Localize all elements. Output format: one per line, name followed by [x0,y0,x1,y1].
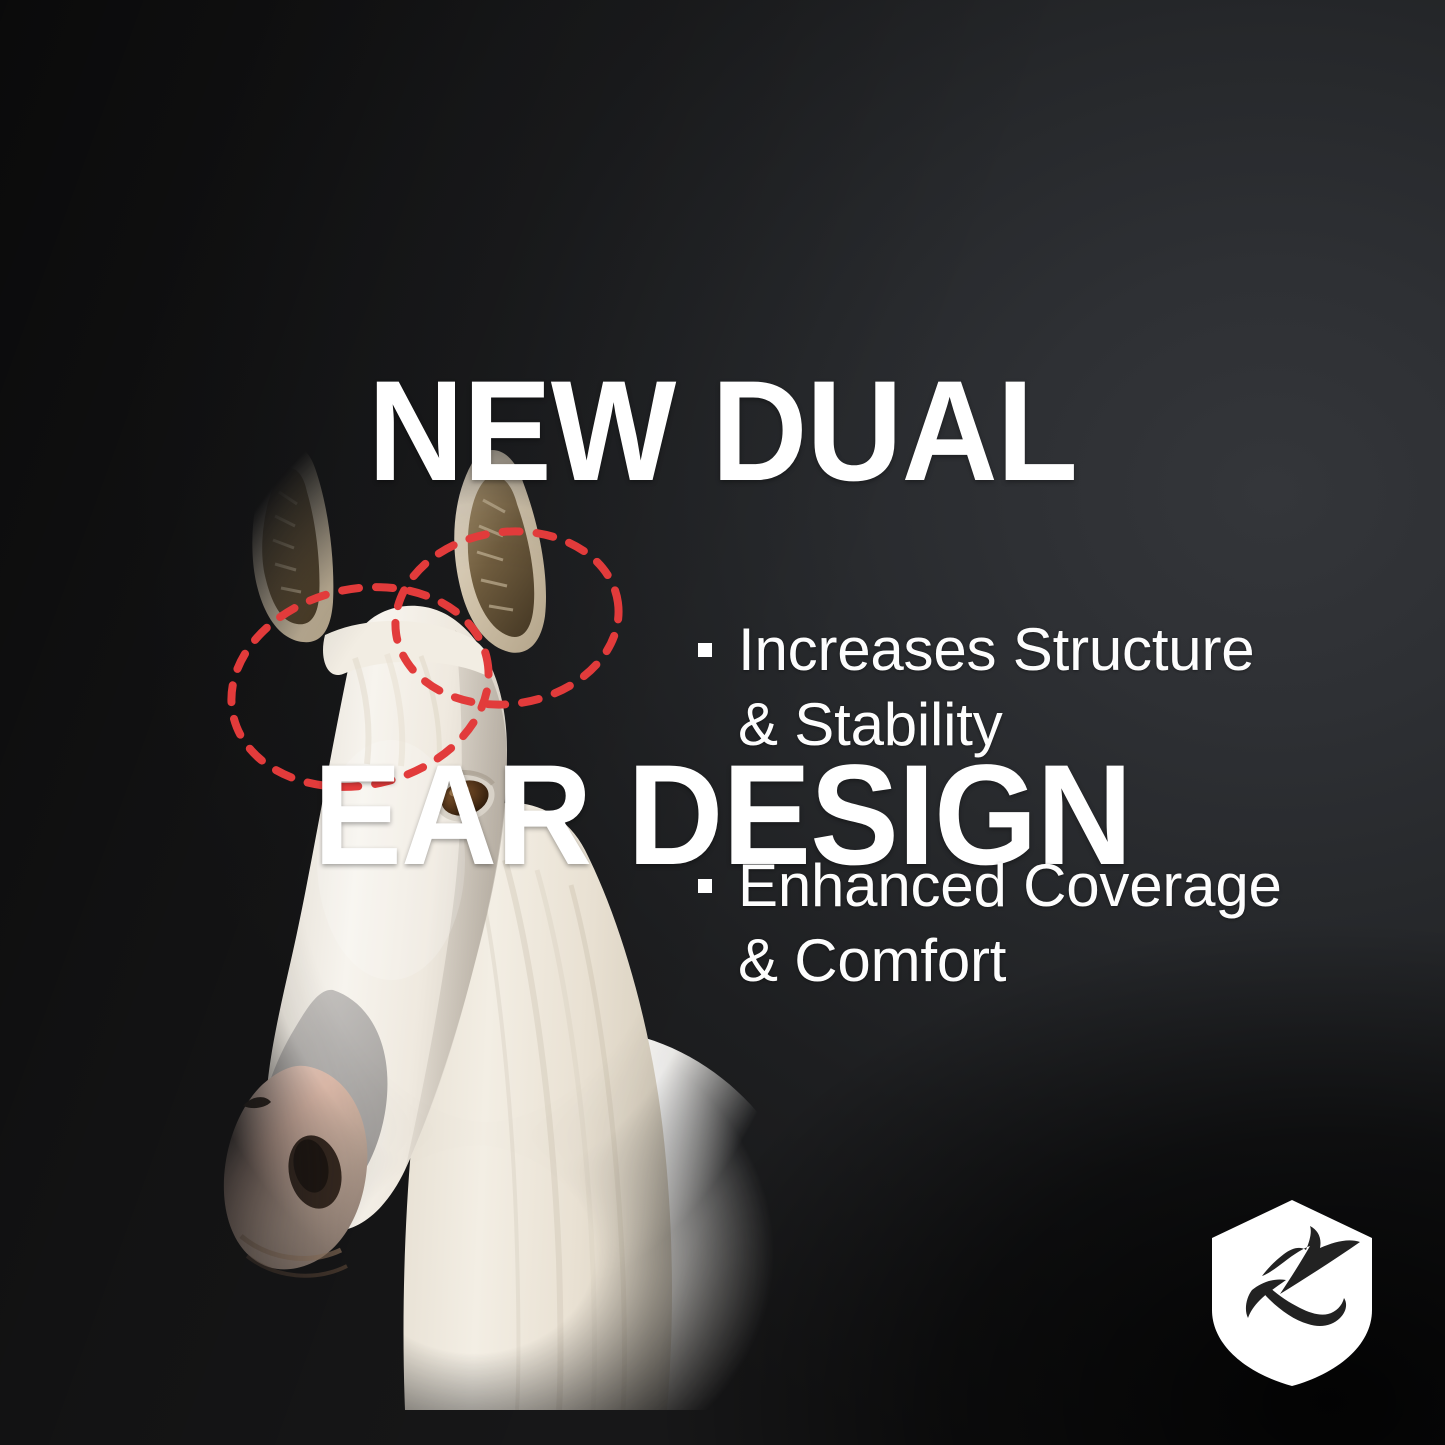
feature-text: Enhanced Coverage & Comfort [738,848,1282,998]
promo-image-canvas: NEW DUAL EAR DESIGN Increases Structure … [0,0,1445,1445]
shield-icon [1212,1200,1372,1386]
list-item: Enhanced Coverage & Comfort [698,848,1378,998]
brand-logo [1206,1198,1378,1388]
headline-line-1: NEW DUAL [51,368,1395,496]
feature-list: Increases Structure & Stability Enhanced… [698,612,1378,1084]
square-bullet-icon [698,643,712,657]
feature-text: Increases Structure & Stability [738,612,1254,762]
square-bullet-icon [698,879,712,893]
list-item: Increases Structure & Stability [698,612,1378,762]
